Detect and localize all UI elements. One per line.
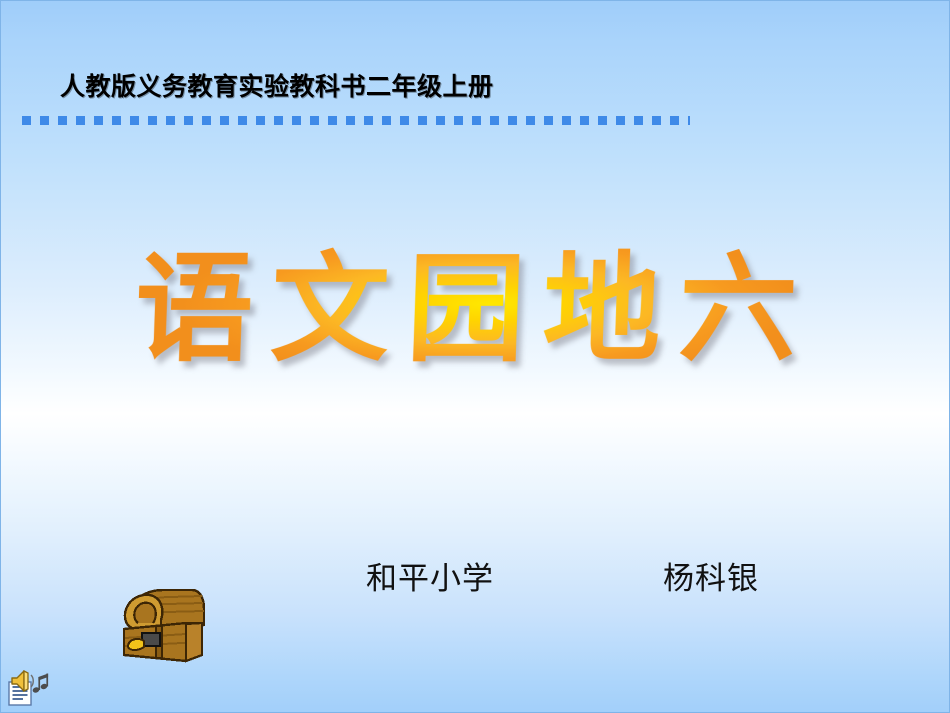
slide-title-text: 语文园地六 — [133, 243, 818, 375]
sound-object-icon[interactable] — [6, 666, 50, 708]
textbook-edition-header: 人教版义务教育实验教科书二年级上册 — [60, 74, 494, 99]
dotted-rule-divider — [22, 116, 690, 125]
presentation-slide: 人教版义务教育实验教科书二年级上册 语文园地六 和平小学 杨科银 — [0, 0, 950, 713]
slide-title: 语文园地六 — [0, 243, 950, 393]
treasure-chest-image — [114, 583, 206, 669]
author-name: 杨科银 — [663, 553, 759, 598]
school-name: 和平小学 — [366, 553, 494, 598]
